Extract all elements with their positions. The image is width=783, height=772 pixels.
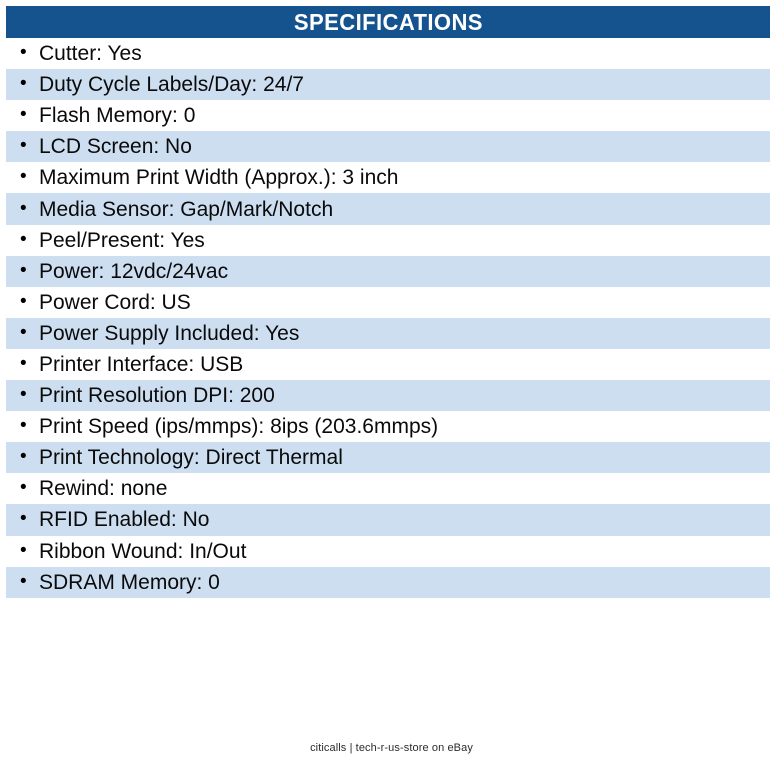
bullet-icon: • — [20, 43, 39, 62]
spec-list-item: •Power: 12vdc/24vac — [6, 256, 770, 287]
bullet-icon: • — [20, 478, 39, 497]
spec-item-label: RFID Enabled: No — [39, 509, 209, 530]
spec-item-label: Flash Memory: 0 — [39, 105, 195, 126]
spec-item-label: Print Technology: Direct Thermal — [39, 447, 343, 468]
bullet-icon: • — [20, 136, 39, 155]
bullet-icon: • — [20, 199, 39, 218]
spec-list-item: •Power Supply Included: Yes — [6, 318, 770, 349]
bullet-icon: • — [20, 323, 39, 342]
spec-item-label: Media Sensor: Gap/Mark/Notch — [39, 199, 333, 220]
spec-item-label: Cutter: Yes — [39, 43, 142, 64]
bullet-icon: • — [20, 354, 39, 373]
bullet-icon: • — [20, 105, 39, 124]
bullet-icon: • — [20, 509, 39, 528]
spec-item-label: Maximum Print Width (Approx.): 3 inch — [39, 167, 398, 188]
spec-item-label: Rewind: none — [39, 478, 167, 499]
bullet-icon: • — [20, 74, 39, 93]
spec-item-label: SDRAM Memory: 0 — [39, 572, 220, 593]
bullet-icon: • — [20, 541, 39, 560]
footer-credit: citicalls | tech-r-us-store on eBay — [0, 742, 783, 754]
spec-list-item: •Print Technology: Direct Thermal — [6, 442, 770, 473]
bullet-icon: • — [20, 385, 39, 404]
bullet-icon: • — [20, 230, 39, 249]
specifications-header-band: SPECIFICATIONS — [6, 6, 770, 38]
bullet-icon: • — [20, 167, 39, 186]
spec-list-item: •Media Sensor: Gap/Mark/Notch — [6, 193, 770, 224]
bullet-icon: • — [20, 261, 39, 280]
spec-list-item: •Peel/Present: Yes — [6, 225, 770, 256]
page-title: SPECIFICATIONS — [293, 11, 482, 34]
spec-list-item: •Print Speed (ips/mmps): 8ips (203.6mmps… — [6, 411, 770, 442]
spec-list-item: •SDRAM Memory: 0 — [6, 567, 770, 598]
specifications-sheet: SPECIFICATIONS •Cutter: Yes•Duty Cycle L… — [0, 0, 783, 772]
spec-item-label: Power Supply Included: Yes — [39, 323, 299, 344]
spec-item-label: Printer Interface: USB — [39, 354, 243, 375]
spec-list-item: •Power Cord: US — [6, 287, 770, 318]
spec-list-item: •Flash Memory: 0 — [6, 100, 770, 131]
spec-list-item: •Ribbon Wound: In/Out — [6, 536, 770, 567]
spec-list-item: •Cutter: Yes — [6, 38, 770, 69]
bullet-icon: • — [20, 416, 39, 435]
spec-item-label: Power: 12vdc/24vac — [39, 261, 228, 282]
spec-list-item: •Duty Cycle Labels/Day: 24/7 — [6, 69, 770, 100]
spec-item-label: Power Cord: US — [39, 292, 191, 313]
specifications-list: •Cutter: Yes•Duty Cycle Labels/Day: 24/7… — [6, 38, 770, 598]
spec-list-item: •Maximum Print Width (Approx.): 3 inch — [6, 162, 770, 193]
spec-list-item: •Rewind: none — [6, 473, 770, 504]
bullet-icon: • — [20, 572, 39, 591]
spec-item-label: Peel/Present: Yes — [39, 230, 205, 251]
spec-list-item: •Print Resolution DPI: 200 — [6, 380, 770, 411]
spec-list-item: •LCD Screen: No — [6, 131, 770, 162]
bullet-icon: • — [20, 292, 39, 311]
spec-item-label: Duty Cycle Labels/Day: 24/7 — [39, 74, 304, 95]
spec-item-label: Print Speed (ips/mmps): 8ips (203.6mmps) — [39, 416, 438, 437]
spec-list-item: •RFID Enabled: No — [6, 504, 770, 535]
spec-item-label: Ribbon Wound: In/Out — [39, 541, 246, 562]
spec-list-item: •Printer Interface: USB — [6, 349, 770, 380]
spec-item-label: Print Resolution DPI: 200 — [39, 385, 275, 406]
spec-item-label: LCD Screen: No — [39, 136, 192, 157]
bullet-icon: • — [20, 447, 39, 466]
